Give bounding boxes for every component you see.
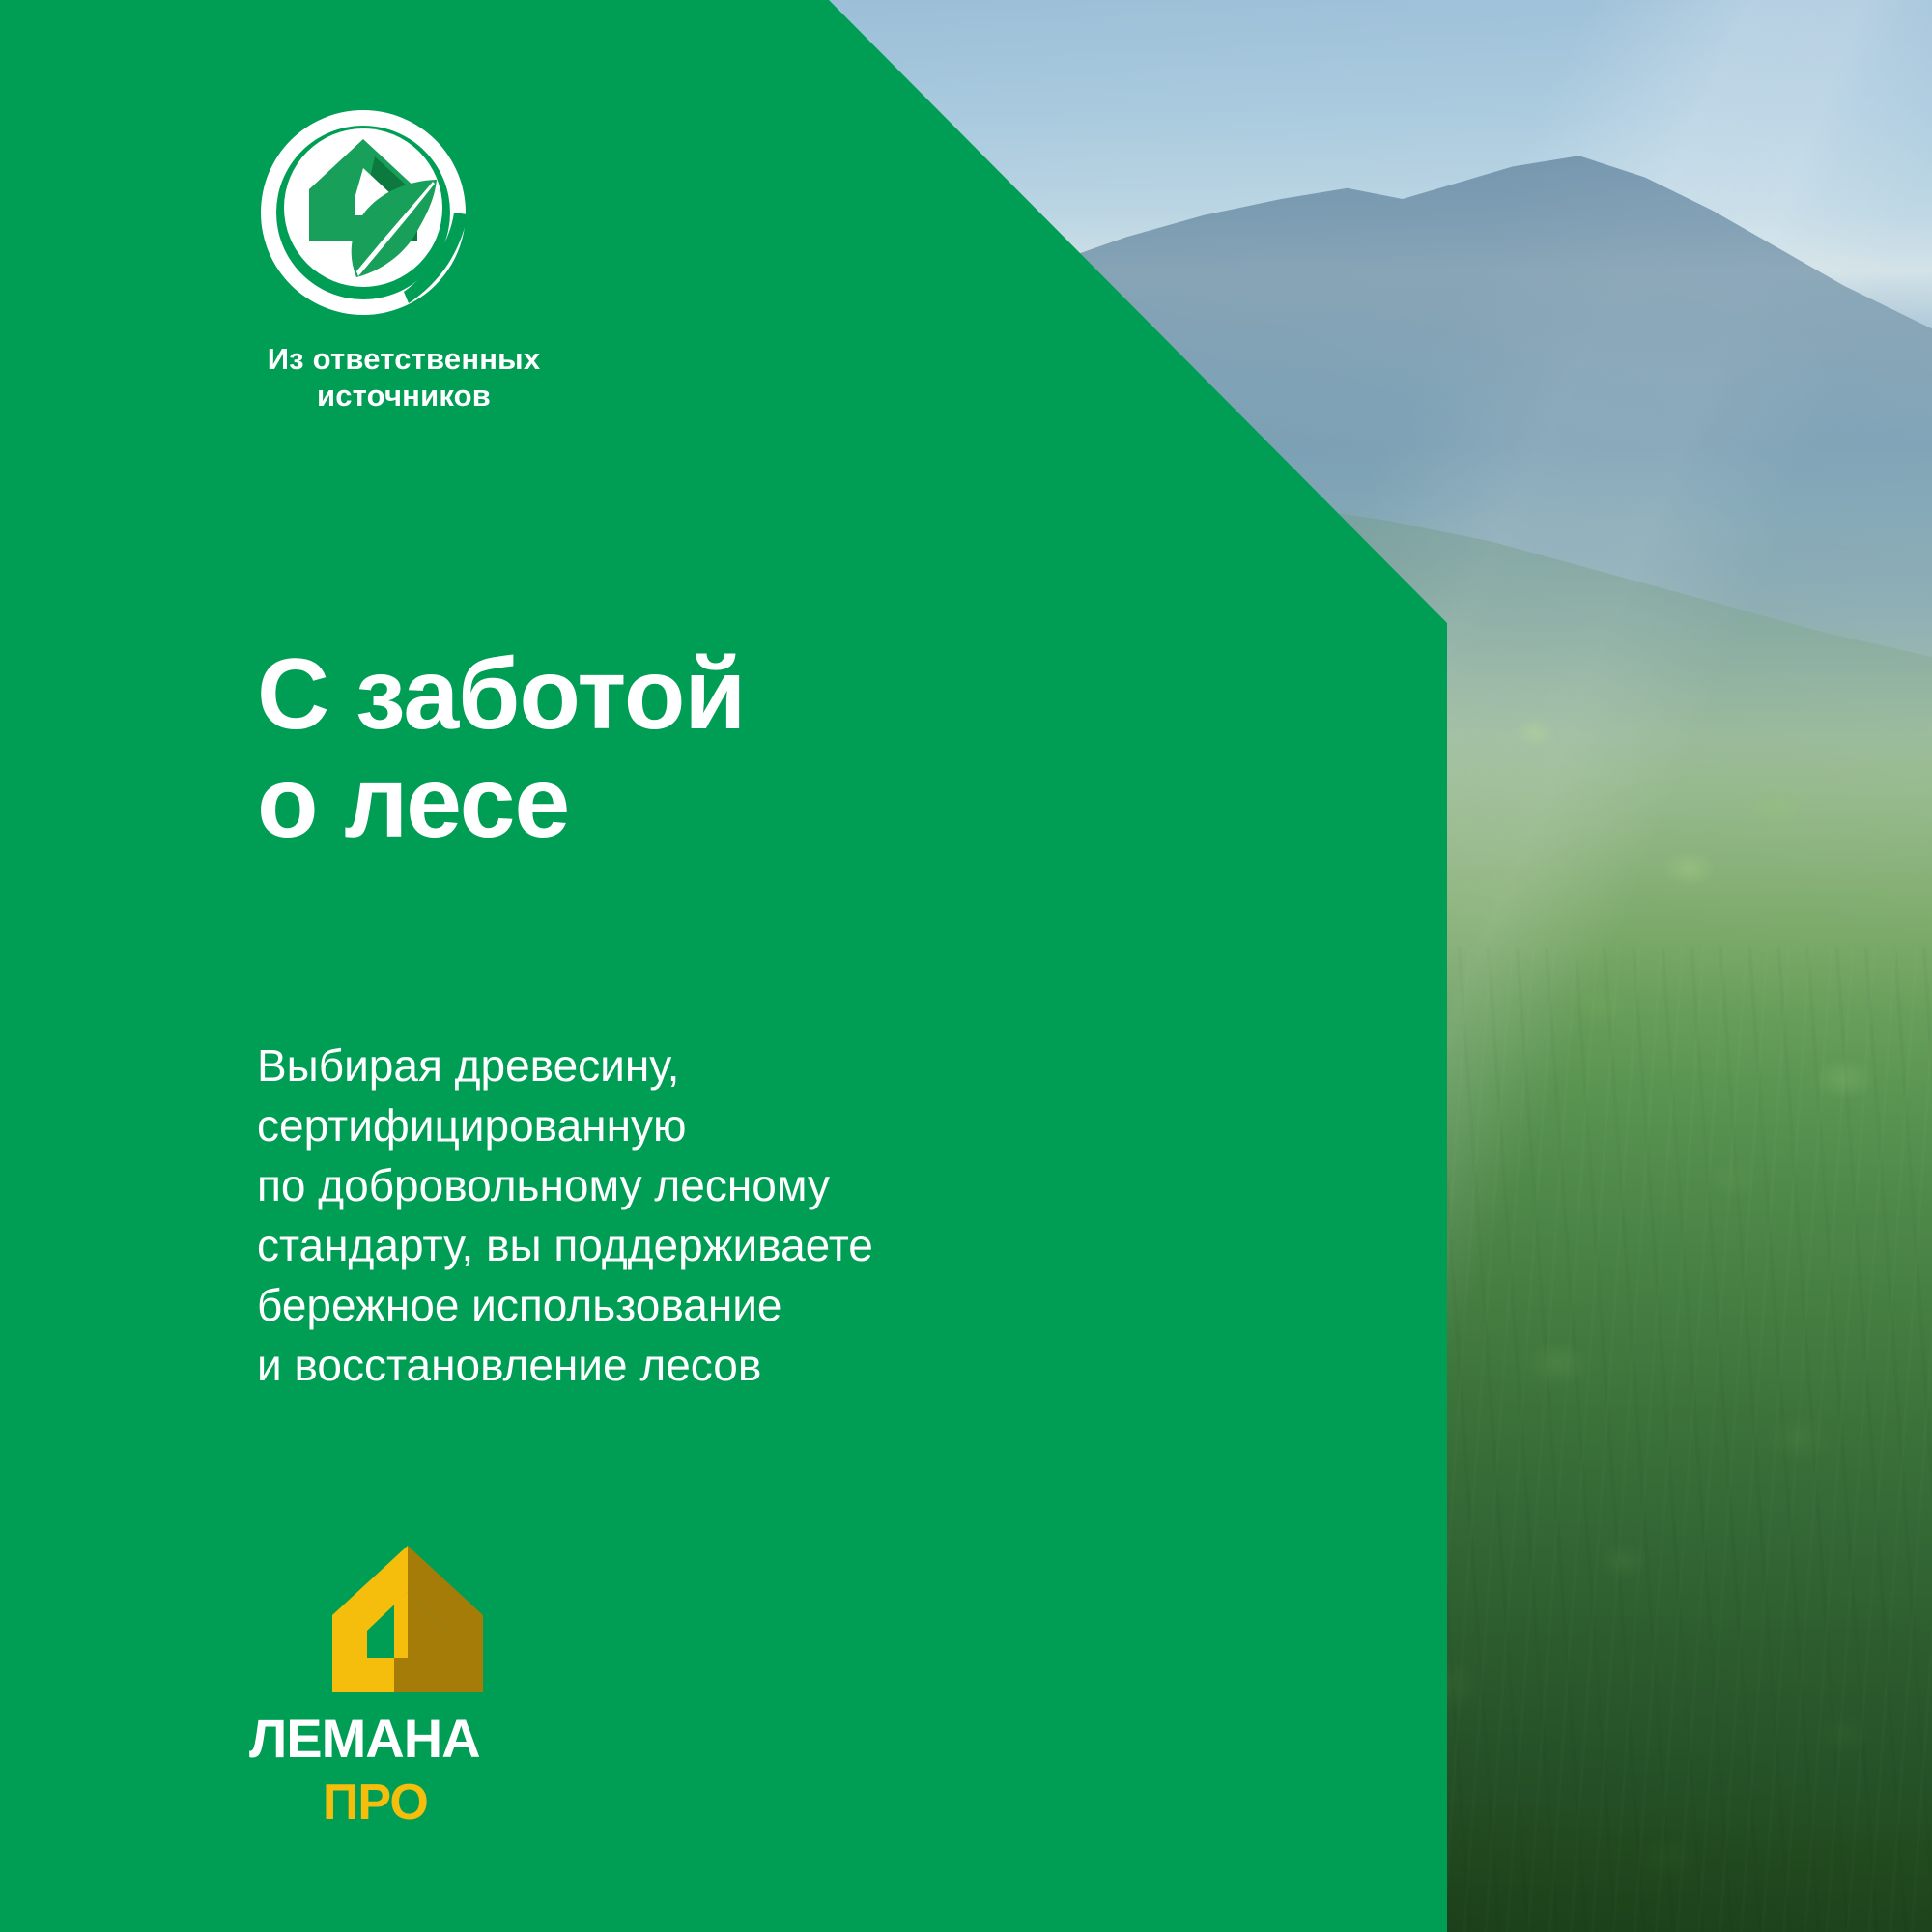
page-title: С заботой о лесе	[257, 640, 745, 858]
body-paragraph: Выбирая древесину, сертифицированную по …	[257, 1036, 1010, 1396]
poster: Из ответственных источников С заботой о …	[0, 0, 1932, 1932]
brand-wordmark-lemana: ЛЕМАНА	[249, 1712, 568, 1768]
brand-name-text: ЛЕМАНА	[249, 1768, 250, 1769]
brand-logo: ЛЕМАНА ЛЕМАНА ПРО ПРО	[249, 1544, 597, 1828]
lemana-house-icon	[325, 1544, 491, 1694]
brand-wordmark-pro: ПРО	[323, 1777, 485, 1828]
svg-text:ПРО: ПРО	[323, 1777, 428, 1828]
svg-text:ЛЕМАНА: ЛЕМАНА	[249, 1712, 480, 1768]
certification-caption: Из ответственных источников	[249, 341, 558, 414]
house-leaf-circle-mark-icon	[257, 106, 469, 319]
certification-badge: Из ответственных источников	[249, 106, 732, 414]
